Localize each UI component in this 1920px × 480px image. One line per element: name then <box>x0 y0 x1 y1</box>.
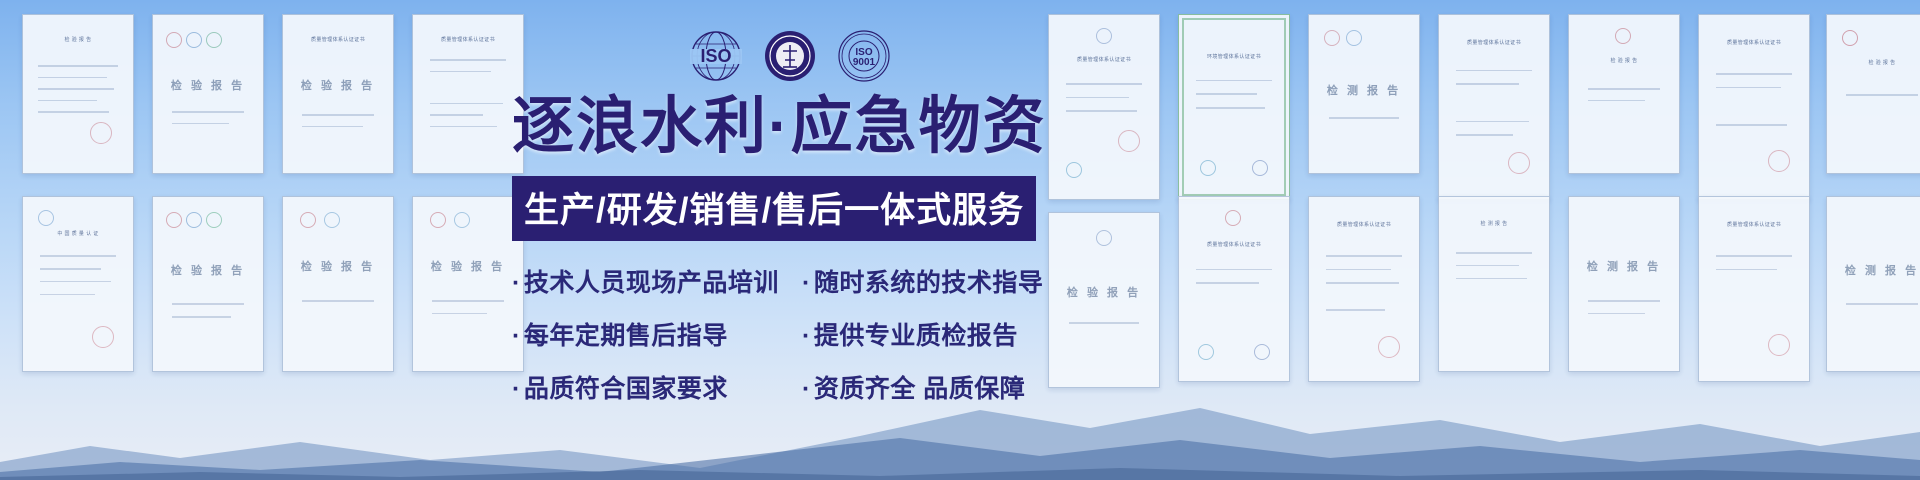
certificate-thumb: 检 验 报 告 <box>1568 14 1680 174</box>
iso-badge: ISO <box>690 30 742 87</box>
certificate-thumb: 质量管理体系认证证书 <box>412 14 524 174</box>
iso9001-seal-icon: ISO 9001 <box>838 30 890 82</box>
feature-label: 随时系统的技术指导 <box>814 263 1044 299</box>
certificate-thumb: 检 验 报 告 <box>152 14 264 174</box>
feature-label: 技术人员现场产品培训 <box>524 263 779 299</box>
feature-item: · 提供专业质检报告 <box>802 316 1018 352</box>
banner-subtitle-bar: 生产/研发/销售/售后一体式服务 <box>512 176 1036 241</box>
certificate-thumb: 中 国 质 量 认 证 <box>22 196 134 372</box>
bullet-dot-icon: · <box>512 322 521 351</box>
promo-banner: 检 验 报 告 检 验 报 告 质量管理体系认证证书 检 验 报 告 <box>0 0 1920 480</box>
feature-item: · 品质符合国家要求 <box>512 369 802 405</box>
iso9001-badge: ISO 9001 <box>838 30 890 87</box>
certificate-thumb: 质量管理体系认证证书 检 验 报 告 <box>282 14 394 174</box>
feature-list: · 技术人员现场产品培训 · 随时系统的技术指导 · 每年定期售后指导 · 提供… <box>512 263 1072 405</box>
certificate-thumb: 检 测 报 告 <box>1308 14 1420 174</box>
feature-item: · 随时系统的技术指导 <box>802 263 1043 299</box>
feature-item: · 每年定期售后指导 <box>512 316 802 352</box>
feature-row: · 每年定期售后指导 · 提供专业质检报告 <box>512 316 1072 352</box>
iso-globe-icon: ISO <box>690 30 742 82</box>
bullet-dot-icon: · <box>512 375 521 404</box>
quality-seal-badge <box>764 30 816 87</box>
bullet-dot-icon: · <box>802 322 811 351</box>
feature-item: · 技术人员现场产品培训 <box>512 263 802 299</box>
svg-text:ISO: ISO <box>700 46 731 66</box>
banner-content: 逐浪水利·应急物资 生产/研发/销售/售后一体式服务 · 技术人员现场产品培训 … <box>512 96 1072 422</box>
certificate-thumb: 质量管理体系认证证书 <box>1698 14 1810 200</box>
feature-row: · 技术人员现场产品培训 · 随时系统的技术指导 <box>512 263 1072 299</box>
feature-label: 资质齐全 品质保障 <box>814 369 1025 405</box>
feature-item: · 资质齐全 品质保障 <box>802 369 1025 405</box>
certificate-thumb: 检 验 报 告 <box>412 196 524 372</box>
feature-row: · 品质符合国家要求 · 资质齐全 品质保障 <box>512 369 1072 405</box>
certificate-thumb: 检 验 报 告 <box>1826 14 1920 174</box>
bullet-dot-icon: · <box>802 375 811 404</box>
svg-text:9001: 9001 <box>853 57 876 68</box>
certificate-thumb: 检 测 报 告 <box>1568 196 1680 372</box>
bullet-dot-icon: · <box>802 269 811 298</box>
certificate-thumb: 检 测 报 告 <box>1438 196 1550 372</box>
feature-label: 每年定期售后指导 <box>524 316 728 352</box>
certificate-thumb: 检 验 报 告 <box>22 14 134 174</box>
certificate-thumb: 环境管理体系认证证书 <box>1178 14 1290 200</box>
certification-badges: ISO ISO 9001 <box>690 28 890 88</box>
certificate-thumb: 质量管理体系认证证书 <box>1438 14 1550 200</box>
bullet-dot-icon: · <box>512 269 521 298</box>
certificate-thumb: 检 验 报 告 <box>152 196 264 372</box>
certificate-thumb: 检 验 报 告 <box>282 196 394 372</box>
certificate-thumb: 检 测 报 告 <box>1826 196 1920 372</box>
feature-label: 提供专业质检报告 <box>814 316 1018 352</box>
quality-seal-icon <box>764 30 816 82</box>
banner-main-title: 逐浪水利·应急物资 <box>512 96 1072 158</box>
feature-label: 品质符合国家要求 <box>524 369 728 405</box>
